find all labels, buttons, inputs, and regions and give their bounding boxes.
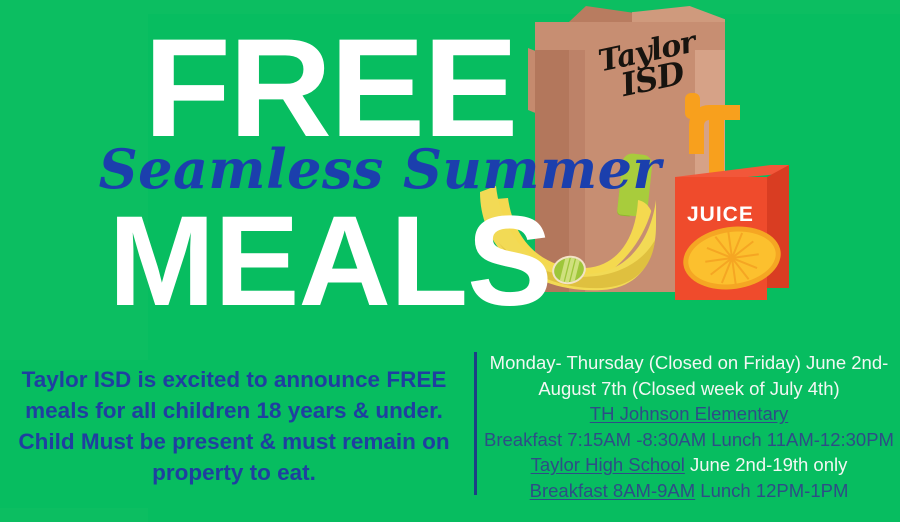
schedule-site-highschool-row: Taylor High School June 2nd-19th only bbox=[480, 452, 898, 478]
schedule-site-highschool: Taylor High School bbox=[531, 454, 685, 475]
schedule-times-elementary: Breakfast 7:15AM -8:30AM Lunch 11AM-12:3… bbox=[480, 427, 898, 453]
headline-meals: MEALS bbox=[0, 198, 660, 326]
schedule-highschool-lunch: Lunch 12PM-1PM bbox=[695, 480, 848, 501]
schedule-times-highschool-row: Breakfast 8AM-9AM Lunch 12PM-1PM bbox=[480, 478, 898, 504]
schedule-line-dates-1: Monday- Thursday (Closed on Friday) June… bbox=[480, 350, 898, 376]
juice-box-label: JUICE bbox=[687, 203, 754, 227]
schedule-highschool-breakfast: Breakfast 8AM-9AM bbox=[530, 480, 696, 501]
announcement-text: Taylor ISD is excited to announce FREE m… bbox=[8, 364, 460, 488]
schedule-site-elementary: TH Johnson Elementary bbox=[480, 401, 898, 427]
schedule-highschool-dates: June 2nd-19th only bbox=[685, 454, 848, 475]
flyer-poster: Taylor ISD bbox=[0, 0, 900, 522]
headline-seamless-summer: Seamless Summer bbox=[0, 142, 760, 196]
schedule-details: Monday- Thursday (Closed on Friday) June… bbox=[480, 350, 898, 503]
schedule-line-dates-2: August 7th (Closed week of July 4th) bbox=[480, 376, 898, 402]
vertical-divider bbox=[474, 352, 477, 495]
